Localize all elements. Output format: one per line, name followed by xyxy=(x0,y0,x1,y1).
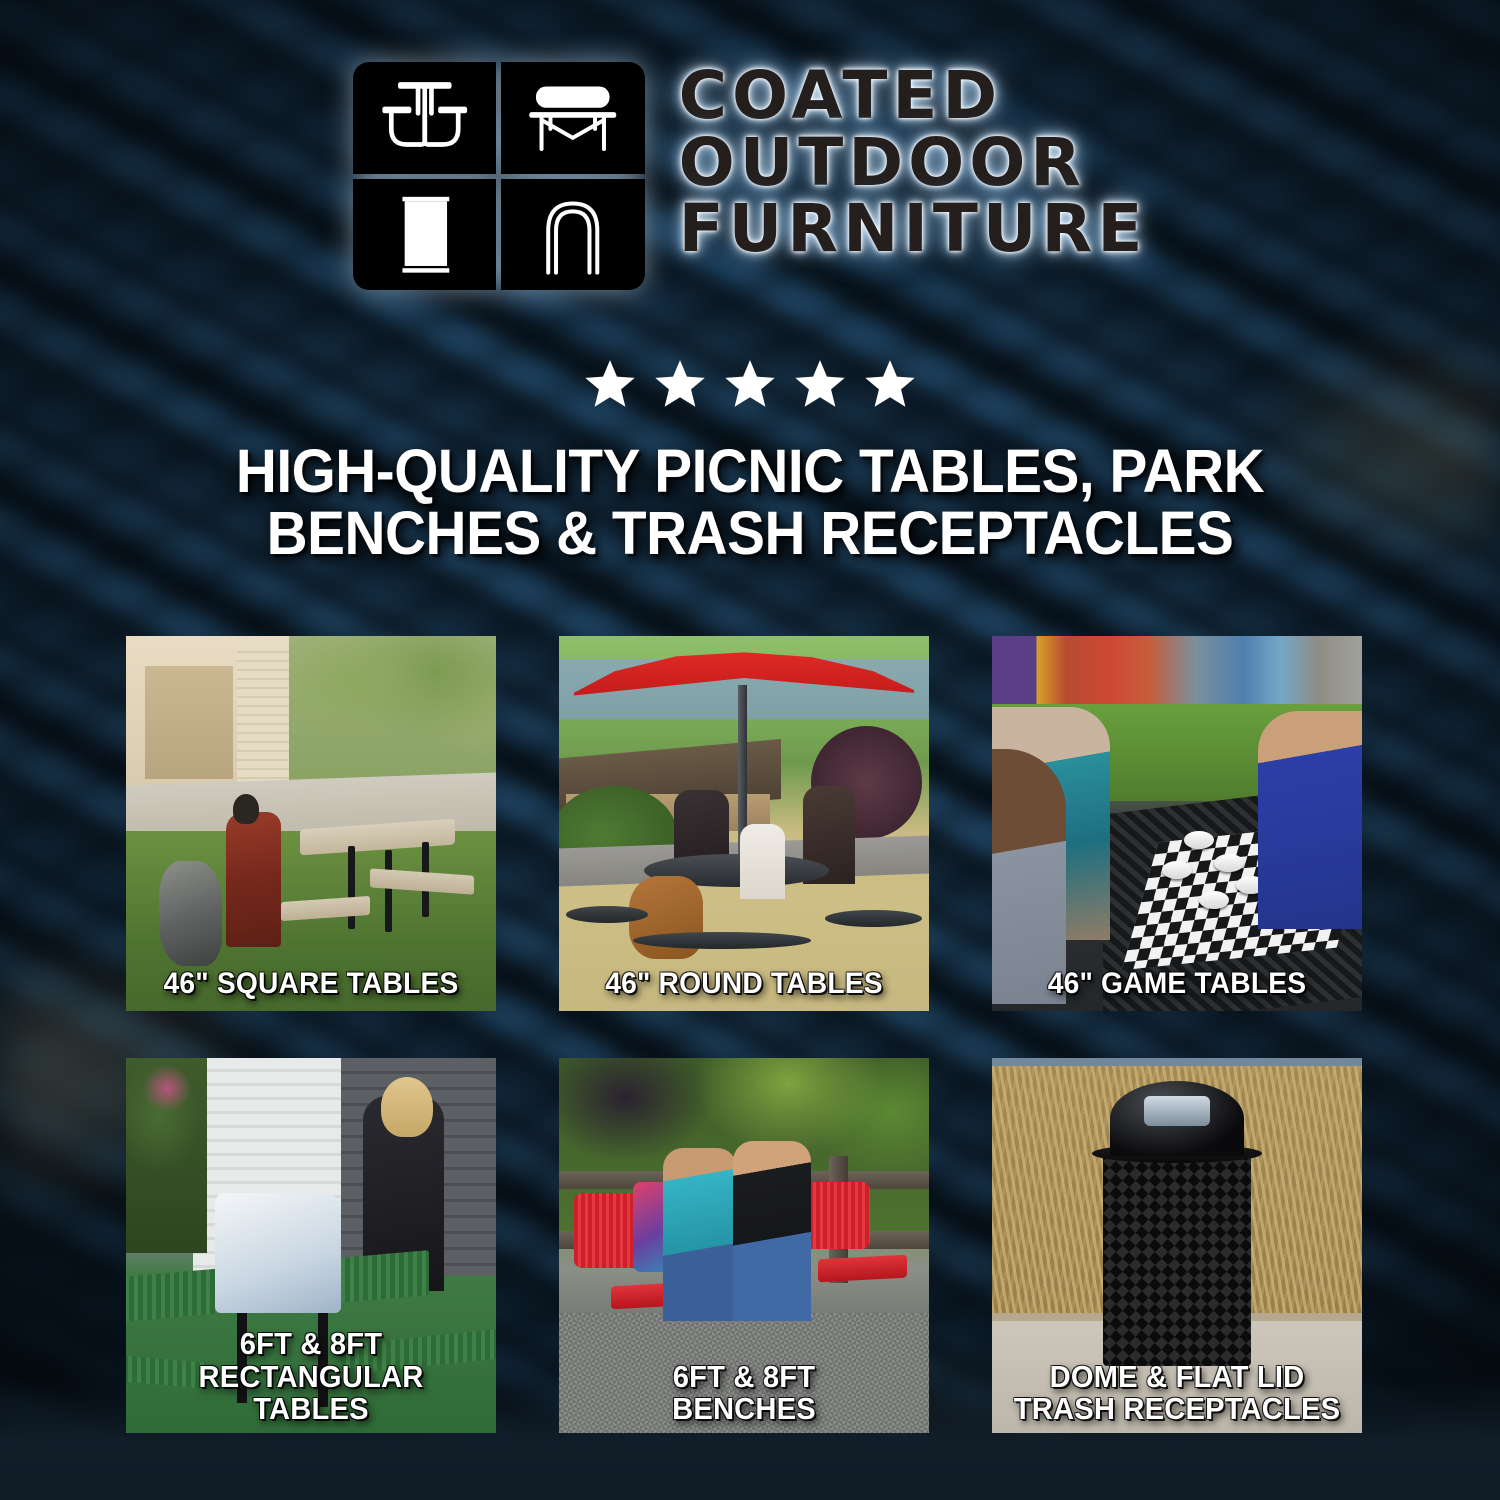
product-caption: 6FT & 8FT BENCHES xyxy=(570,1361,918,1425)
product-grid: 46" SQUARE TABLES 46" ROUND TABLES xyxy=(126,636,1376,1433)
promo-banner: COATED OUTDOOR FURNITURE HIGH-QUALITY PI… xyxy=(0,0,1500,1500)
product-caption-line-1: DOME & FLAT LID xyxy=(1011,1361,1344,1393)
trash-receptacle-icon xyxy=(353,179,497,291)
logo-line-3: FURNITURE xyxy=(679,197,1148,262)
product-photo-game-tables xyxy=(992,636,1362,1011)
bike-rack-icon xyxy=(501,179,645,291)
park-bench-icon xyxy=(501,62,645,174)
product-card-benches[interactable]: 6FT & 8FT BENCHES xyxy=(559,1058,929,1433)
logo-lockup: COATED OUTDOOR FURNITURE xyxy=(353,62,1148,290)
star-icon xyxy=(583,358,637,410)
product-card-game-tables[interactable]: 46" GAME TABLES xyxy=(992,636,1362,1011)
logo-mark xyxy=(353,62,645,290)
headline-line-2: BENCHES & TRASH RECEPTACLES xyxy=(108,502,1391,564)
product-caption: 46" SQUARE TABLES xyxy=(137,968,485,999)
star-icon xyxy=(723,358,777,410)
product-photo-square-tables xyxy=(126,636,496,1011)
logo-line-1: COATED xyxy=(679,64,1148,129)
product-caption-line-1: 6FT & 8FT xyxy=(578,1361,911,1393)
product-caption-line-2: TRASH RECEPTACLES xyxy=(1011,1393,1344,1425)
picnic-table-icon xyxy=(353,62,497,174)
headline-line-1: HIGH-QUALITY PICNIC TABLES, PARK xyxy=(108,440,1391,502)
logo-wordmark: COATED OUTDOOR FURNITURE xyxy=(679,62,1148,262)
product-caption-line-1: 6FT & 8FT xyxy=(145,1328,478,1360)
brand-header: COATED OUTDOOR FURNITURE xyxy=(0,62,1500,290)
product-caption: 6FT & 8FT RECTANGULAR TABLES xyxy=(137,1328,485,1425)
star-icon xyxy=(793,358,847,410)
star-rating xyxy=(0,358,1500,410)
logo-line-2: OUTDOOR xyxy=(679,131,1148,196)
product-caption: 46" ROUND TABLES xyxy=(570,968,918,999)
headline: HIGH-QUALITY PICNIC TABLES, PARK BENCHES… xyxy=(0,440,1500,564)
product-card-trash-receptacles[interactable]: DOME & FLAT LID TRASH RECEPTACLES xyxy=(992,1058,1362,1433)
product-photo-round-tables xyxy=(559,636,929,1011)
product-caption: 46" GAME TABLES xyxy=(1003,968,1351,999)
product-caption-line-2: BENCHES xyxy=(578,1393,911,1425)
star-icon xyxy=(653,358,707,410)
product-caption: DOME & FLAT LID TRASH RECEPTACLES xyxy=(1003,1361,1351,1425)
product-caption-line-2: RECTANGULAR TABLES xyxy=(145,1361,478,1425)
product-card-rectangular-tables[interactable]: 6FT & 8FT RECTANGULAR TABLES xyxy=(126,1058,496,1433)
star-icon xyxy=(863,358,917,410)
product-card-round-tables[interactable]: 46" ROUND TABLES xyxy=(559,636,929,1011)
product-card-square-tables[interactable]: 46" SQUARE TABLES xyxy=(126,636,496,1011)
